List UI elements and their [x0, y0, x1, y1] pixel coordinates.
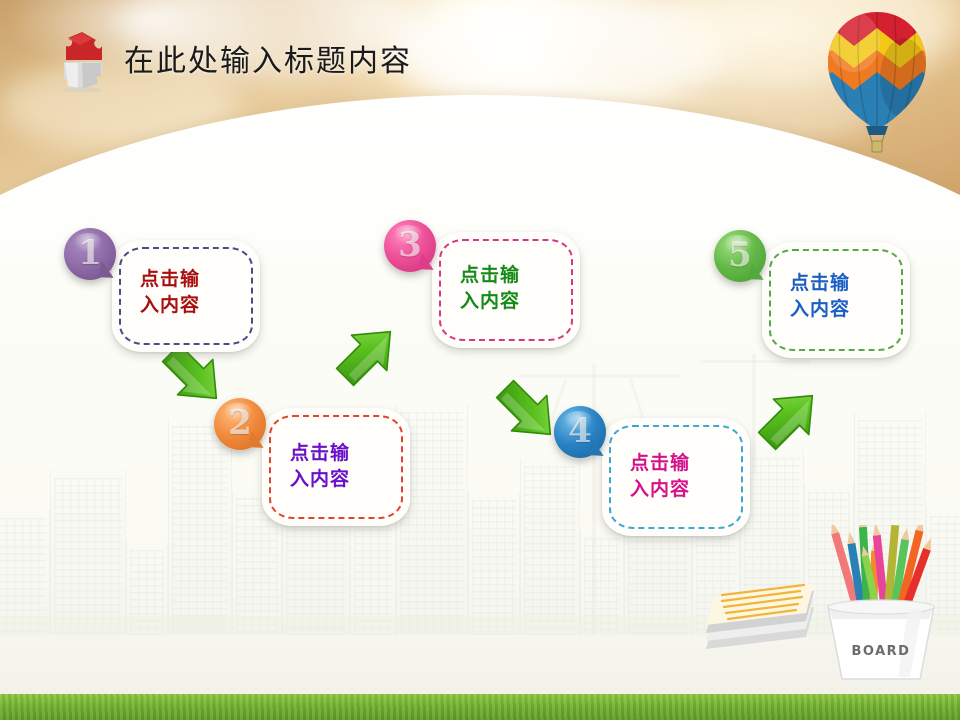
callout-badge-3[interactable]: 3	[384, 220, 436, 272]
callout-text-line2: 入内容	[790, 296, 850, 322]
callout-text-line2: 入内容	[140, 292, 200, 318]
callout-text-line2: 入内容	[460, 288, 520, 314]
paper-stack-icon	[706, 583, 814, 649]
grass-strip	[0, 694, 960, 720]
callout-badge-5[interactable]: 5	[714, 230, 766, 282]
pencil-cup-label: BOARD	[852, 644, 911, 659]
desk-items: BOARD	[700, 525, 956, 685]
callout-text: 点击输 入内容	[140, 266, 200, 318]
callout-text-line2: 入内容	[290, 466, 350, 492]
slide-canvas: 在此处输入标题内容	[0, 0, 960, 720]
callout-text: 点击输 入内容	[290, 440, 350, 492]
callout-text-line1: 点击输	[790, 270, 850, 296]
puzzle-piece-icon	[52, 30, 114, 92]
callout-text-line1: 点击输	[290, 440, 350, 466]
hot-air-balloon-icon	[812, 8, 942, 158]
callout-text-line2: 入内容	[630, 476, 690, 502]
pencil-cup: BOARD	[828, 600, 934, 679]
callout-badge-1[interactable]: 1	[64, 228, 116, 280]
callout-text: 点击输 入内容	[790, 270, 850, 322]
arrow-3-to-4	[490, 374, 564, 448]
callout-text: 点击输 入内容	[630, 450, 690, 502]
page-title: 在此处输入标题内容	[124, 36, 412, 80]
callout-text-line1: 点击输	[140, 266, 200, 292]
callout-badge-2[interactable]: 2	[214, 398, 266, 450]
callout-text-line1: 点击输	[460, 262, 520, 288]
callout-text: 点击输 入内容	[460, 262, 520, 314]
callout-badge-4[interactable]: 4	[554, 406, 606, 458]
callout-text-line1: 点击输	[630, 450, 690, 476]
arrow-4-to-5	[752, 382, 826, 456]
arrow-2-to-3	[330, 318, 404, 392]
